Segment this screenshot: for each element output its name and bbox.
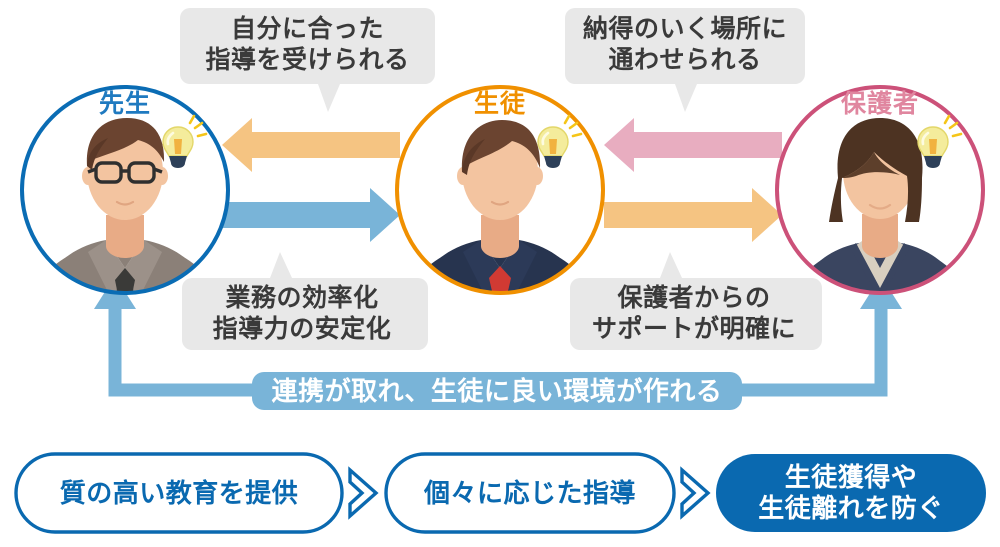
flow-connector-1-icon [350, 470, 376, 516]
callout-text-student-benefit: 保護者からの サポートが明確に [570, 283, 818, 344]
flow-step-1-label: 質の高い教育を提供 [16, 478, 342, 509]
student-to-parent-arrow [604, 188, 782, 242]
flow-step-2-label: 個々に応じた指導 [386, 478, 674, 509]
callout-line: サポートが明確に [570, 314, 818, 345]
flow-connector-2-icon [682, 470, 708, 516]
student-to-teacher-arrow [222, 118, 400, 172]
teacher-to-student-arrow [222, 188, 400, 242]
actor-label-parent: 保護者 [815, 84, 945, 120]
actor-label-student: 生徒 [440, 84, 560, 120]
callout-text-teacher-benefit: 業務の効率化 指導力の安定化 [182, 283, 422, 344]
actor-label-teacher: 先生 [65, 84, 185, 120]
flow-step-line: 質の高い教育を提供 [16, 478, 342, 509]
callout-line: 業務の効率化 [182, 283, 422, 314]
callout-text-student-to-teacher: 自分に合った 指導を受けられる [180, 14, 435, 75]
parent-to-student-arrow [604, 118, 782, 172]
callout-line: 納得のいく場所に [565, 14, 805, 45]
collaboration-banner-text: 連携が取れ、生徒に良い環境が作れる [252, 378, 742, 404]
callout-line: 指導を受けられる [180, 45, 435, 76]
flow-step-line: 生徒離れを防ぐ [716, 493, 986, 524]
flow-step-line: 生徒獲得や [716, 462, 986, 493]
callout-text-parent-to-student: 納得のいく場所に 通わせられる [565, 14, 805, 75]
callout-line: 通わせられる [565, 45, 805, 76]
callout-line: 保護者からの [570, 283, 818, 314]
callout-line: 自分に合った [180, 14, 435, 45]
flow-step-line: 個々に応じた指導 [386, 478, 674, 509]
callout-line: 指導力の安定化 [182, 314, 422, 345]
flow-step-3-label: 生徒獲得や 生徒離れを防ぐ [716, 462, 986, 524]
diagram-canvas: 先生 生徒 保護者 自分に合った 指導を受けられる 納得のいく場所に 通わせられ… [0, 0, 1000, 547]
